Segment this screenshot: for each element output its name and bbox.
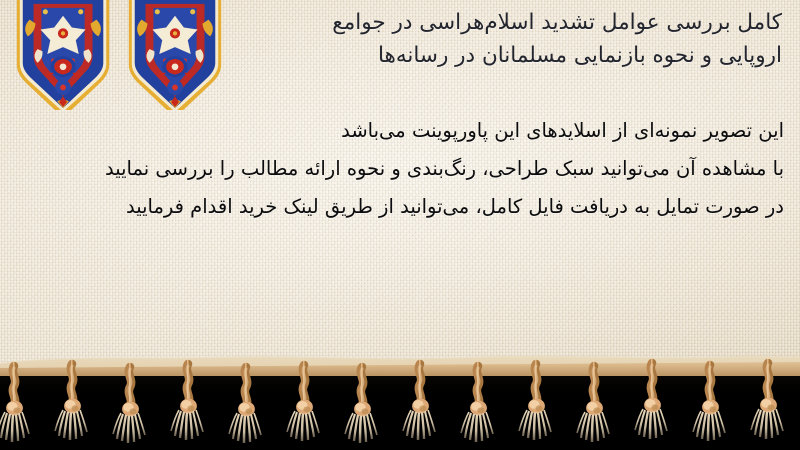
slide-body: این تصویر نمونه‌ای از اسلایدهای این پاور…	[12, 112, 784, 226]
bottom-black-band	[0, 370, 800, 450]
slide-title-line-2: اروپایی و نحوه بازنمایی مسلمانان در رسان…	[252, 39, 782, 72]
slide-title-line-1: کامل بررسی عوامل تشدید اسلام‌هراسی در جو…	[252, 6, 782, 39]
slide-title: کامل بررسی عوامل تشدید اسلام‌هراسی در جو…	[252, 6, 782, 72]
slide-body-line-2: با مشاهده آن می‌توانید سبک طراحی، رنگ‌بن…	[12, 150, 784, 188]
slide-body-line-1: این تصویر نمونه‌ای از اسلایدهای این پاور…	[12, 112, 784, 150]
slide-canvas: کامل بررسی عوامل تشدید اسلام‌هراسی در جو…	[0, 0, 800, 450]
slide-body-line-3: در صورت تمایل به دریافت فایل کامل، می‌تو…	[12, 188, 784, 226]
